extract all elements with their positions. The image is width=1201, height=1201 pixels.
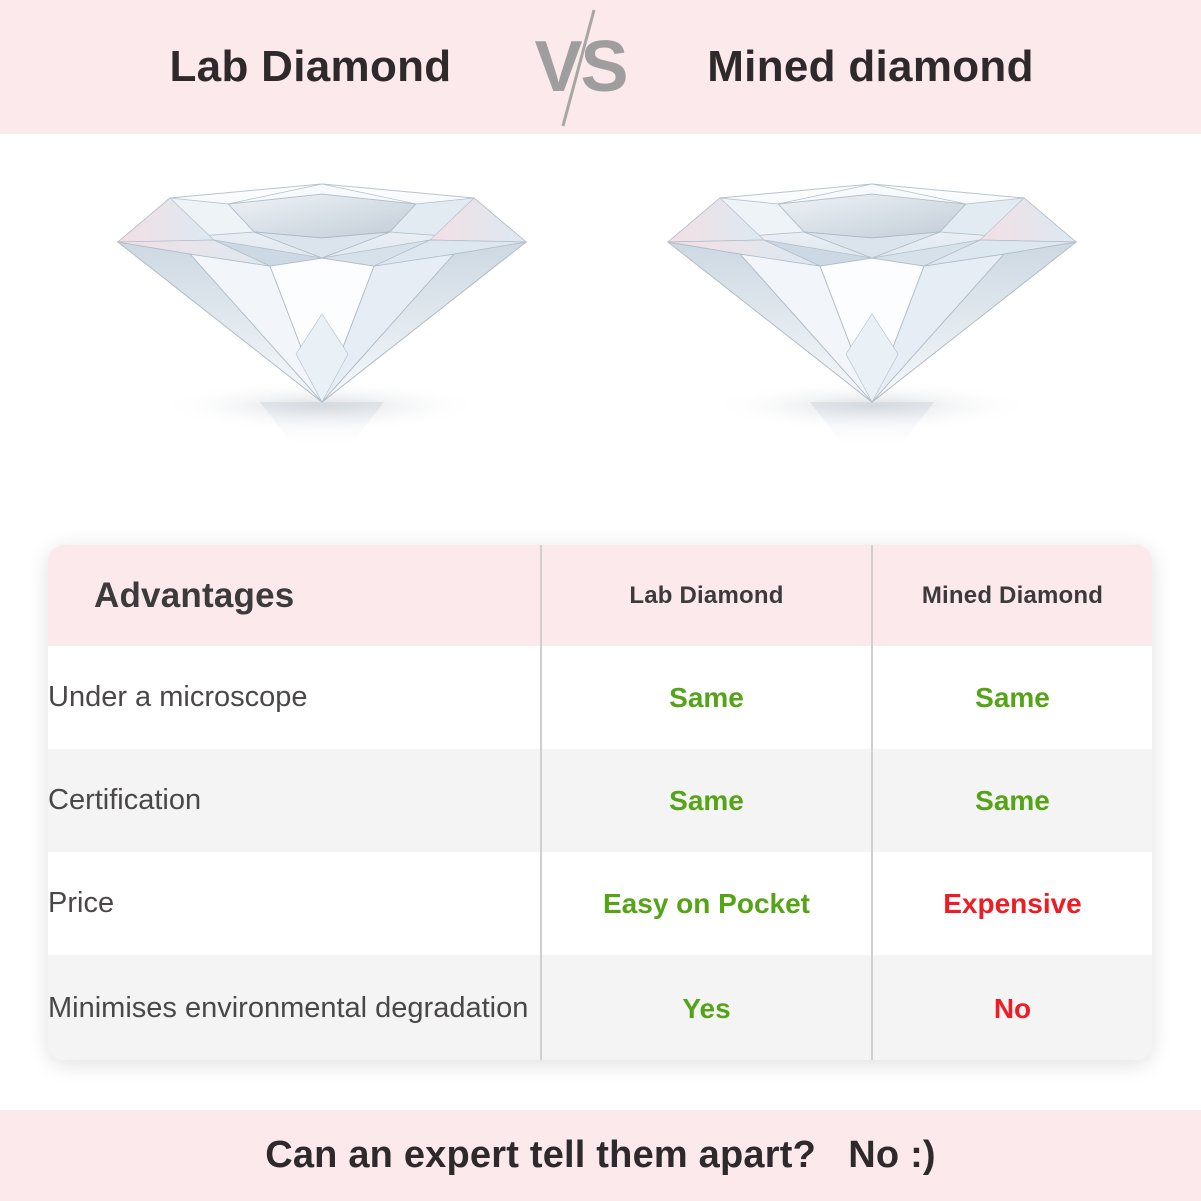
column-header-lab-diamond: Lab Diamond [541,545,872,646]
row-value-mined: No [872,955,1152,1060]
bottom-banner: Can an expert tell them apart? No :) [0,1110,1201,1201]
diamond-image-area [0,134,1201,534]
comparison-table: Advantages Lab Diamond Mined Diamond Und… [48,545,1152,1060]
table-header: Advantages Lab Diamond Mined Diamond [48,545,1152,646]
table-body: Under a microscope Same Same Certificati… [48,646,1152,1060]
column-header-mined-diamond: Mined Diamond [872,545,1152,646]
column-header-advantages: Advantages [48,545,541,646]
footer-question: Can an expert tell them apart? No :) [265,1134,936,1177]
row-value-lab: Same [541,646,872,749]
table-row: Price Easy on Pocket Expensive [48,852,1152,955]
row-value-lab: Easy on Pocket [541,852,872,955]
row-label: Price [48,852,541,955]
diamond-illustration-icon [660,154,1080,454]
vs-label: VS [534,31,626,103]
table-row: Certification Same Same [48,749,1152,852]
mined-diamond-heading: Mined diamond [641,45,1101,89]
mined-diamond-image [660,154,1080,454]
row-label: Certification [48,749,541,852]
diamond-illustration-icon [110,154,530,454]
row-label: Minimises environmental degradation [48,955,541,1060]
comparison-table-card: Advantages Lab Diamond Mined Diamond Und… [48,545,1152,1060]
row-value-mined: Expensive [872,852,1152,955]
row-value-mined: Same [872,646,1152,749]
table-row: Minimises environmental degradation Yes … [48,955,1152,1060]
row-value-lab: Yes [541,955,872,1060]
row-label: Under a microscope [48,646,541,749]
vs-badge: VS [521,2,641,132]
infographic-page: Lab Diamond VS Mined diamond [0,0,1201,1201]
top-banner: Lab Diamond VS Mined diamond [0,0,1201,134]
table-row: Under a microscope Same Same [48,646,1152,749]
row-value-lab: Same [541,749,872,852]
row-value-mined: Same [872,749,1152,852]
lab-diamond-heading: Lab Diamond [101,45,521,89]
lab-diamond-image [110,154,530,454]
table-header-row: Advantages Lab Diamond Mined Diamond [48,545,1152,646]
